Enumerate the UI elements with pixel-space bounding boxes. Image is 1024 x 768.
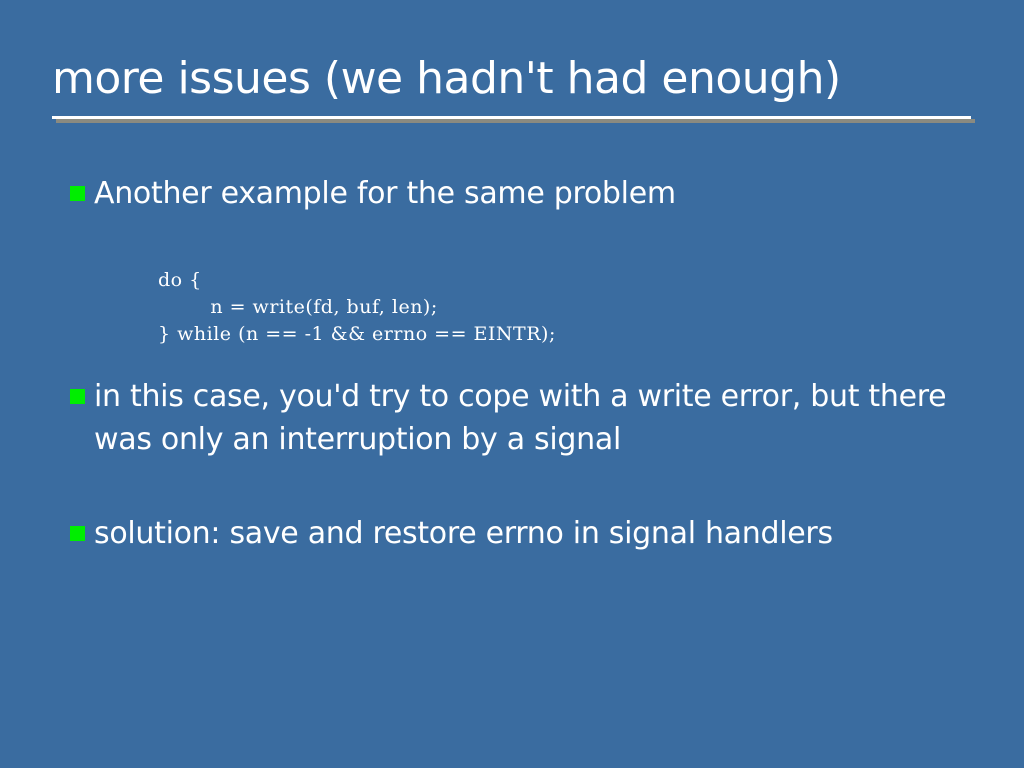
green-square-bullet-icon (70, 389, 85, 404)
code-snippet: do { n = write(fd, buf, len);} while (n … (158, 267, 858, 348)
page-title: more issues (we hadn't had enough) (52, 52, 972, 106)
code-line-2: n = write(fd, buf, len); (158, 294, 858, 321)
bullet-item-1: Another example for the same problem (70, 172, 950, 215)
green-square-bullet-icon (70, 526, 85, 541)
title-underline-shadow (56, 119, 975, 123)
bullet-item-3: solution: save and restore errno in sign… (70, 512, 950, 555)
green-square-bullet-icon (70, 186, 85, 201)
code-snippet-body: do { n = write(fd, buf, len);} while (n … (158, 267, 858, 348)
code-line-1: do { (158, 267, 858, 294)
bullet-item-2: in this case, you'd try to cope with a w… (70, 375, 950, 461)
slide-title-block: more issues (we hadn't had enough) (52, 52, 972, 106)
bullet-item-3-label: solution: save and restore errno in sign… (94, 512, 833, 555)
code-line-3: } while (n == -1 && errno == EINTR); (158, 321, 858, 348)
bullet-item-2-label: in this case, you'd try to cope with a w… (94, 375, 950, 461)
presentation-slide: more issues (we hadn't had enough) Anoth… (0, 0, 1024, 768)
bullet-item-1-label: Another example for the same problem (94, 172, 676, 215)
